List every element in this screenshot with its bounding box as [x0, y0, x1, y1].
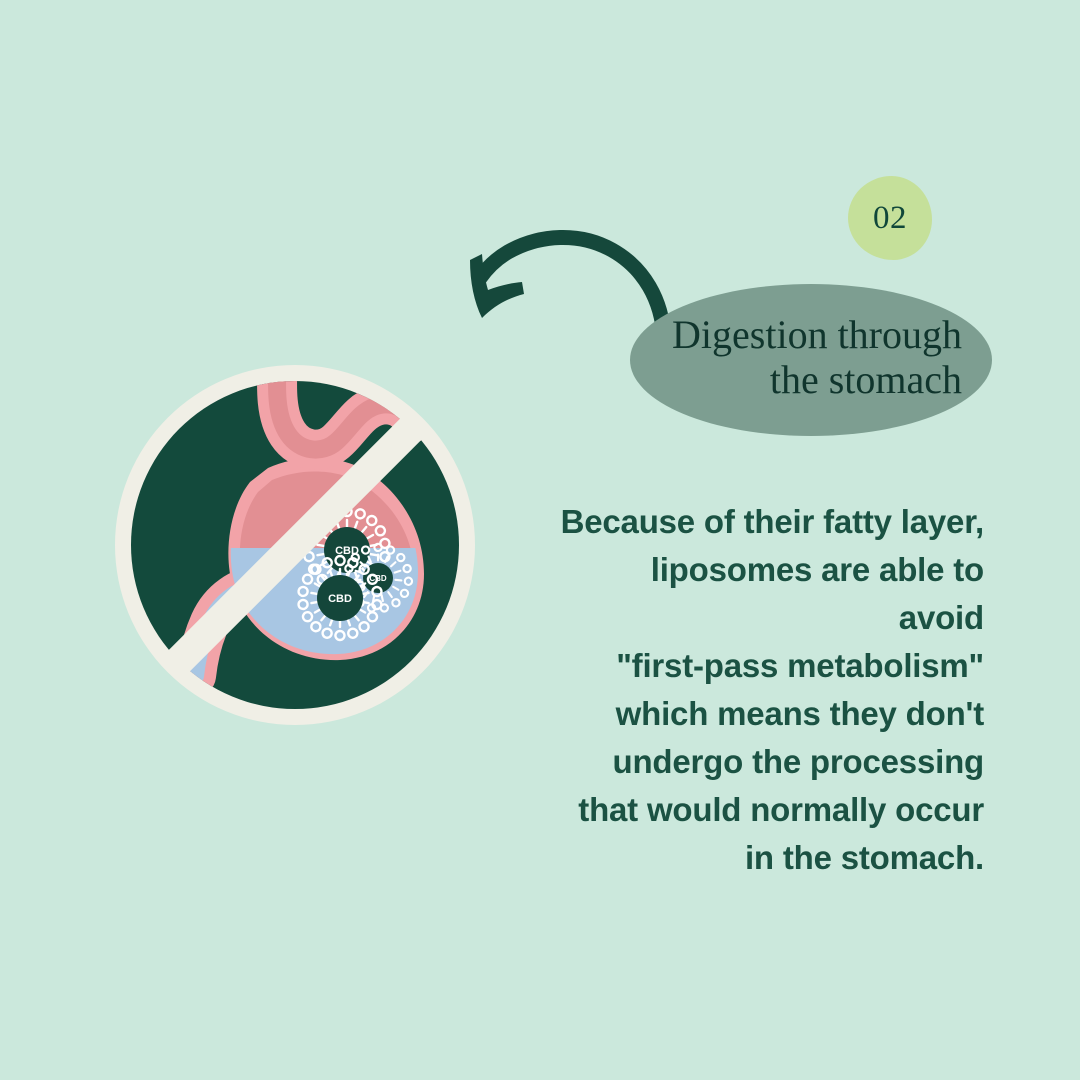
- section-title-text: Digestion through the stomach: [672, 313, 962, 403]
- section-title-pill: Digestion through the stomach: [630, 284, 992, 436]
- stomach-prohibited-illustration: CBD: [100, 350, 490, 740]
- illustration-svg: CBD: [100, 350, 490, 740]
- infographic-canvas: 02 Digestion through the stomach Because…: [0, 0, 1080, 1080]
- step-number-badge: 02: [848, 176, 932, 260]
- body-paragraph: Because of their fatty layer, liposomes …: [560, 498, 984, 882]
- liposome-label: CBD: [328, 593, 352, 605]
- step-number-label: 02: [873, 202, 907, 235]
